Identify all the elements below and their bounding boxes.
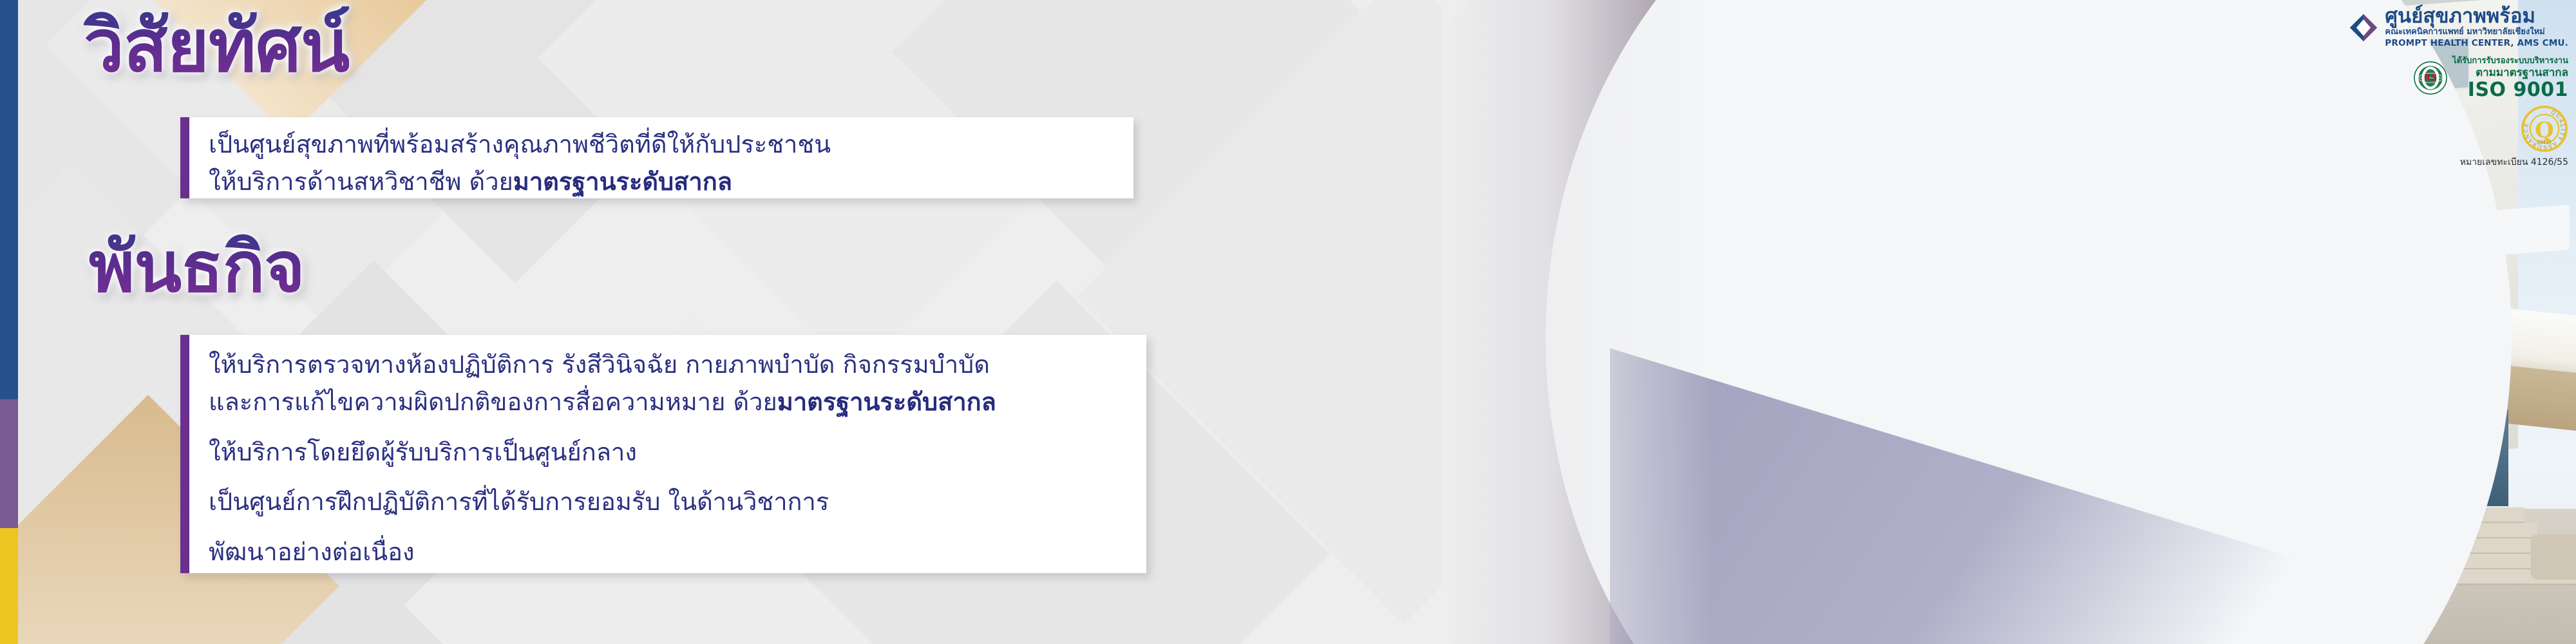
logo-title: ศูนย์สุขภาพพร้อม (2385, 5, 2535, 28)
vision-line-text: เป็นศูนย์สุขภาพที่พร้อมสร้างคุณภาพชีวิตท… (209, 130, 831, 158)
left-color-stripe (0, 0, 18, 644)
iso-text-block: ได้รับการรับรองระบบบริหารงาน ตามมาตรฐานส… (2452, 56, 2568, 100)
mission-line-text: และการแก้ไขความผิดปกติของการสื่อความหมาย… (209, 388, 777, 416)
planter (2531, 535, 2576, 580)
vision-card-accent-bar (180, 117, 189, 198)
registration-number: หมายเลขทะเบียน 4126/55 (2460, 155, 2568, 169)
mission-card-accent-bar (180, 335, 189, 573)
logo-subtitle-thai: คณะเทคนิคการแพทย์ มหาวิทยาลัยเชียงใหม่ (2385, 26, 2568, 38)
mission-heading: พันธกิจ (89, 224, 305, 311)
svg-text:RS: RS (2424, 73, 2437, 83)
photo-left-fade (1443, 0, 1713, 644)
iso-certification-badge: RS ได้รับการรับรองระบบบริหารงาน ตามมาตรฐ… (2349, 56, 2568, 100)
q-seal-icon: QUALITY ASSURANCE Q DMSc (2521, 105, 2568, 153)
ukas-seal-icon: RS (2414, 61, 2447, 95)
logo-text-block: ศูนย์สุขภาพพร้อม คณะเทคนิคการแพทย์ มหาวิ… (2385, 6, 2568, 49)
vision-line-bold: มาตรฐานระดับสากล (513, 167, 732, 196)
vision-line-text: ให้บริการด้านสหวิชาชีพ ด้วย (209, 167, 513, 196)
stripe-segment-blue (0, 0, 18, 399)
vision-card: เป็นศูนย์สุขภาพที่พร้อมสร้างคุณภาพชีวิตท… (180, 117, 1133, 198)
stripe-segment-purple (0, 399, 18, 528)
logo-and-certifications: ศูนย์สุขภาพพร้อม คณะเทคนิคการแพทย์ มหาวิ… (2349, 6, 2568, 169)
mission-line-text: พัฒนาอย่างต่อเนื่อง (209, 538, 415, 566)
vision-line: เป็นศูนย์สุขภาพที่พร้อมสร้างคุณภาพชีวิตท… (209, 126, 1117, 164)
mission-line-text: ให้บริการตรวจทางห้องปฏิบัติการ รังสีวินิ… (209, 350, 990, 379)
mission-card: ให้บริการตรวจทางห้องปฏิบัติการ รังสีวินิ… (180, 335, 1146, 573)
iso-line-1: ได้รับการรับรองระบบบริหารงาน (2452, 56, 2568, 66)
organization-logo: ศูนย์สุขภาพพร้อม คณะเทคนิคการแพทย์ มหาวิ… (2349, 6, 2568, 49)
mission-line-text: เป็นศูนย์การฝึกปฏิบัติการที่ได้รับการยอม… (209, 488, 829, 516)
iso-line-2: ตามมาตรฐานสากล (2452, 66, 2568, 79)
quality-assurance-badge: QUALITY ASSURANCE Q DMSc หมายเลขทะเบียน … (2349, 105, 2568, 169)
mission-line: ให้บริการตรวจทางห้องปฏิบัติการ รังสีวินิ… (209, 346, 1130, 384)
vision-card-body: เป็นศูนย์สุขภาพที่พร้อมสร้างคุณภาพชีวิตท… (180, 117, 1133, 210)
mission-card-body: ให้บริการตรวจทางห้องปฏิบัติการ รังสีวินิ… (180, 335, 1146, 578)
iso-standard-number: ISO 9001 (2452, 80, 2568, 100)
mission-line-text: ให้บริการโดยยึดผู้รับบริการเป็นศูนย์กลาง (209, 438, 637, 466)
stripe-segment-gold (0, 528, 18, 644)
vision-heading: วิสัยทัศน์ (84, 1, 349, 91)
diamond-logo-icon (2349, 13, 2378, 43)
mission-line-bold: มาตรฐานระดับสากล (777, 388, 996, 416)
mission-line: และการแก้ไขความผิดปกติของการสื่อความหมาย… (209, 384, 1130, 421)
mission-line: พัฒนาอย่างต่อเนื่อง (209, 534, 1130, 571)
logo-subtitle-english: PROMPT HEALTH CENTER, AMS CMU. (2385, 38, 2568, 50)
mission-line: เป็นศูนย์การฝึกปฏิบัติการที่ได้รับการยอม… (209, 484, 1130, 521)
promotional-banner: วิสัยทัศน์ เป็นศูนย์สุขภาพที่พร้อมสร้างค… (0, 0, 2576, 644)
svg-text:DMSc: DMSc (2537, 139, 2552, 146)
mission-line: ให้บริการโดยยึดผู้รับบริการเป็นศูนย์กลาง (209, 434, 1130, 471)
vision-line: ให้บริการด้านสหวิชาชีพ ด้วยมาตรฐานระดับส… (209, 164, 1117, 201)
